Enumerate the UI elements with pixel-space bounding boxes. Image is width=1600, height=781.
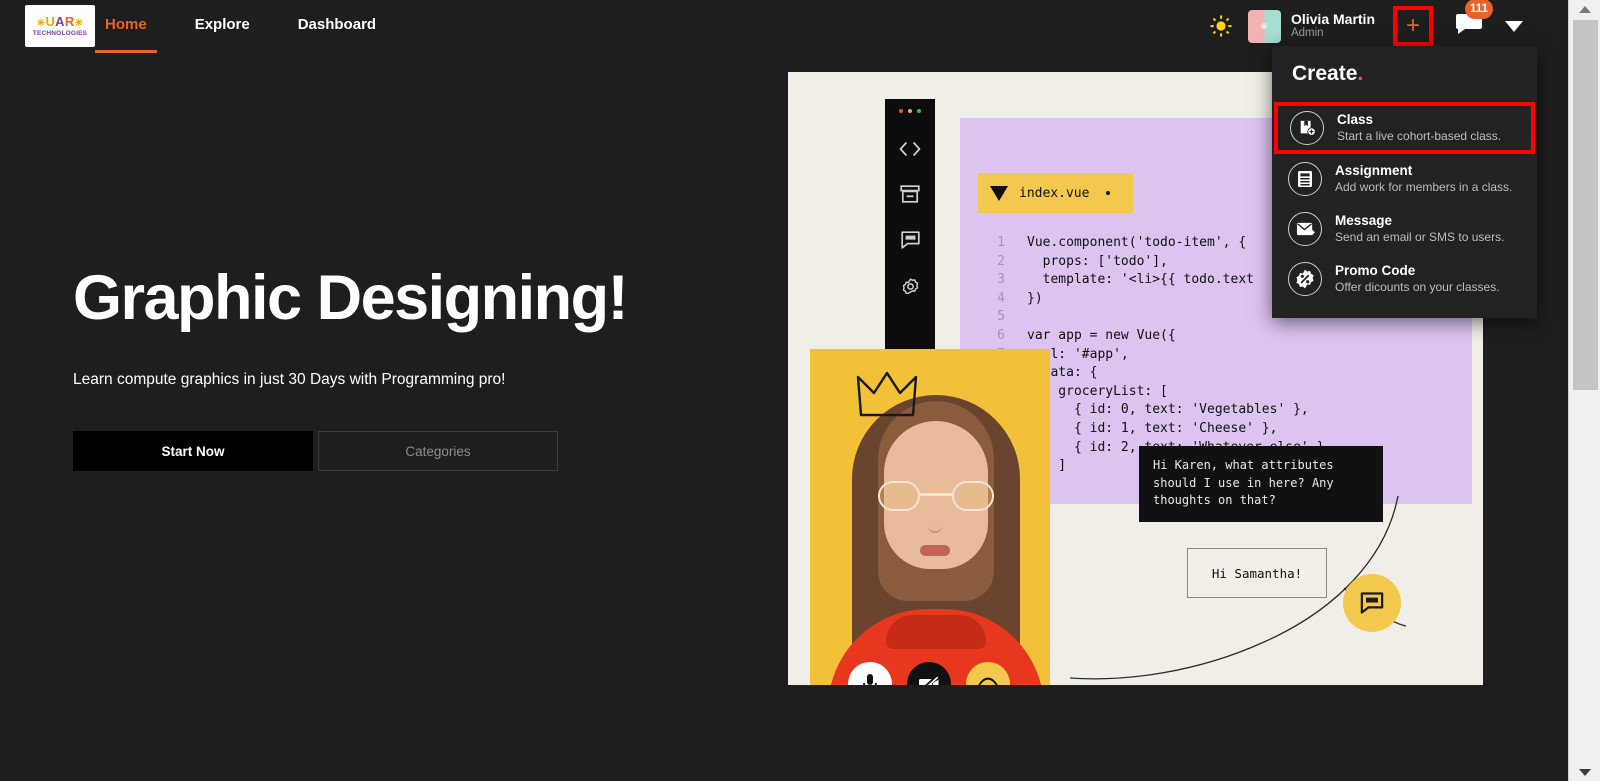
logo-wordmark: ✳UAR✳ xyxy=(37,15,83,29)
code-line-number: 3 xyxy=(971,271,1005,290)
code-line-text: props: ['todo'], xyxy=(1027,253,1168,272)
code-line-number: 1 xyxy=(971,234,1005,253)
message-envelope-icon xyxy=(1288,212,1322,246)
dropdown-title-text: Create xyxy=(1292,62,1357,85)
nav-item-dashboard[interactable]: Dashboard xyxy=(298,16,376,36)
scroll-up-arrow[interactable] xyxy=(1569,0,1600,18)
scroll-down-arrow[interactable] xyxy=(1569,763,1600,781)
menu-item-message[interactable]: Message Send an email or SMS to users. xyxy=(1272,204,1537,254)
menu-item-promo-code-label: Promo Code xyxy=(1335,262,1500,280)
categories-button[interactable]: Categories xyxy=(318,431,558,471)
settings-gear-icon xyxy=(901,277,920,296)
menu-item-message-label: Message xyxy=(1335,212,1504,230)
menu-item-message-desc: Send an email or SMS to users. xyxy=(1335,230,1504,246)
code-line-text: var app = new Vue({ xyxy=(1027,327,1176,346)
portrait-sweater-neck xyxy=(886,615,986,649)
notification-badge: 111 xyxy=(1465,0,1493,19)
archive-box-icon xyxy=(900,185,920,203)
code-line-number: 2 xyxy=(971,253,1005,272)
hero-button-group: Start Now Categories xyxy=(73,431,713,471)
nav-item-explore[interactable]: Explore xyxy=(195,16,250,36)
plus-icon: + xyxy=(1406,14,1420,38)
minimize-dot xyxy=(908,109,912,113)
logo-star-right-icon: ✳ xyxy=(75,18,84,29)
chat-message-outgoing: Hi Samantha! xyxy=(1187,548,1327,598)
user-role: Admin xyxy=(1291,27,1375,40)
app-root: ✳UAR✳ TECHNOLOGIES Home Explore Dashboar… xyxy=(0,0,1600,781)
code-line-text: }) xyxy=(1027,290,1043,309)
menu-item-promo-code[interactable]: Promo Code Offer dicounts on your classe… xyxy=(1272,254,1537,304)
page-scrollbar[interactable] xyxy=(1568,0,1600,781)
user-info[interactable]: Olivia Martin Admin xyxy=(1291,11,1375,40)
video-participant-tile xyxy=(810,349,1050,685)
create-button[interactable]: + xyxy=(1393,6,1433,46)
close-dot xyxy=(899,109,903,113)
menu-item-assignment-label: Assignment xyxy=(1335,162,1512,180)
portrait-glasses xyxy=(878,481,994,511)
menu-item-class-desc: Start a live cohort-based class. xyxy=(1337,129,1501,145)
create-dropdown-menu: Create. Class Start a live cohort-based … xyxy=(1272,46,1537,318)
menu-item-promo-code-text: Promo Code Offer dicounts on your classe… xyxy=(1335,262,1500,295)
code-brackets-icon xyxy=(899,141,921,157)
unsaved-indicator-dot xyxy=(1106,191,1110,195)
promo-badge-percent-icon xyxy=(1288,262,1322,296)
nav-item-home[interactable]: Home xyxy=(105,16,147,36)
crown-doodle-icon xyxy=(856,369,918,421)
comment-icon xyxy=(1360,592,1384,614)
logo-subtitle: TECHNOLOGIES xyxy=(33,31,87,38)
user-name: Olivia Martin xyxy=(1291,11,1375,27)
glasses-lens-right xyxy=(952,481,994,511)
code-line-number: 5 xyxy=(971,308,1005,327)
notifications-button[interactable]: 111 xyxy=(1455,12,1483,41)
menu-item-promo-code-desc: Offer dicounts on your classes. xyxy=(1335,280,1500,296)
window-traffic-lights xyxy=(899,109,921,113)
menu-item-class-label: Class xyxy=(1337,111,1501,129)
logo-letter-a: A xyxy=(55,14,65,29)
chat-message-incoming: Hi Karen, what attributes should I use i… xyxy=(1139,446,1383,522)
menu-item-assignment[interactable]: Assignment Add work for members in a cla… xyxy=(1272,154,1537,204)
dropdown-title-dot: . xyxy=(1357,62,1363,85)
menu-item-class-text: Class Start a live cohort-based class. xyxy=(1337,111,1501,144)
code-line: 6var app = new Vue({ xyxy=(971,327,1483,346)
code-line-text: template: '<li>{{ todo.text xyxy=(1027,271,1254,290)
menu-item-message-text: Message Send an email or SMS to users. xyxy=(1335,212,1504,245)
menu-item-assignment-desc: Add work for members in a class. xyxy=(1335,180,1512,196)
scrollbar-thumb[interactable] xyxy=(1573,20,1598,390)
editor-tab-label: index.vue xyxy=(1019,186,1089,201)
code-line-text: { id: 1, text: 'Cheese' }, xyxy=(1027,420,1277,439)
menu-item-assignment-text: Assignment Add work for members in a cla… xyxy=(1335,162,1512,195)
portrait-lips xyxy=(920,545,950,556)
hero-subtitle: Learn compute graphics in just 30 Days w… xyxy=(73,371,713,389)
primary-nav-links: Home Explore Dashboard xyxy=(105,0,424,52)
top-navigation-bar: ✳UAR✳ TECHNOLOGIES Home Explore Dashboar… xyxy=(0,0,1568,52)
avatar[interactable] xyxy=(1248,10,1281,43)
comment-icon xyxy=(901,231,920,249)
dropdown-title: Create. xyxy=(1272,62,1537,102)
hero-section: Graphic Designing! Learn compute graphic… xyxy=(73,265,713,471)
portrait-nose xyxy=(928,517,942,533)
class-book-add-icon xyxy=(1290,111,1324,145)
vue-logo-icon xyxy=(990,186,1008,201)
sun-icon[interactable] xyxy=(1210,15,1232,37)
code-line-text: Vue.component('todo-item', { xyxy=(1027,234,1246,253)
ide-sidebar xyxy=(885,99,935,354)
code-line-number: 4 xyxy=(971,290,1005,309)
chevron-down-icon[interactable] xyxy=(1505,21,1523,32)
glasses-bridge xyxy=(920,493,952,496)
page-title: Graphic Designing! xyxy=(73,265,713,331)
logo-letter-r: R xyxy=(65,14,75,29)
start-now-button[interactable]: Start Now xyxy=(73,431,313,471)
nav-right-cluster: Olivia Martin Admin + 111 xyxy=(1210,0,1523,52)
glasses-lens-left xyxy=(878,481,920,511)
logo-letter-u: U xyxy=(45,14,55,29)
code-line-number: 6 xyxy=(971,327,1005,346)
menu-item-class[interactable]: Class Start a live cohort-based class. xyxy=(1274,102,1535,154)
maximize-dot xyxy=(917,109,921,113)
brand-logo[interactable]: ✳UAR✳ TECHNOLOGIES xyxy=(25,5,95,47)
editor-tab-index-vue[interactable]: index.vue xyxy=(978,173,1133,213)
chat-fab-button[interactable] xyxy=(1343,574,1401,632)
assignment-doc-icon xyxy=(1288,162,1322,196)
code-line-text: { id: 0, text: 'Vegetables' }, xyxy=(1027,401,1309,420)
